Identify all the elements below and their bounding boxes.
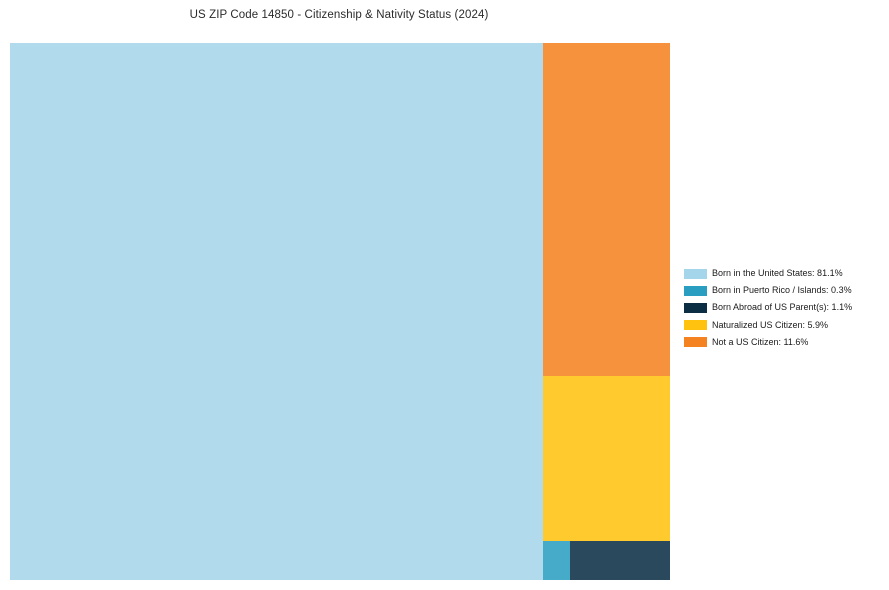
legend-swatch-born-us [684,269,707,279]
legend-label-naturalized: Naturalized US Citizen: 5.9% [712,321,828,330]
chart-legend: Born in the United States: 81.1% Born in… [684,265,884,351]
chart-title: US ZIP Code 14850 - Citizenship & Nativi… [0,9,678,21]
legend-item-not-citizen[interactable]: Not a US Citizen: 11.6% [684,334,884,351]
treemap-tile-born-in-puerto-rico-islands[interactable] [543,541,570,580]
legend-item-puerto-rico[interactable]: Born in Puerto Rico / Islands: 0.3% [684,282,884,299]
legend-label-not-citizen: Not a US Citizen: 11.6% [712,338,808,347]
legend-item-born-abroad[interactable]: Born Abroad of US Parent(s): 1.1% [684,299,884,316]
legend-label-born-abroad: Born Abroad of US Parent(s): 1.1% [712,303,852,312]
treemap-plot-area [10,43,670,580]
treemap-tile-born-abroad-of-us-parents[interactable] [570,541,670,580]
treemap-tile-born-in-the-united-states[interactable] [10,43,543,580]
legend-label-puerto-rico: Born in Puerto Rico / Islands: 0.3% [712,286,852,295]
legend-swatch-puerto-rico [684,286,707,296]
legend-item-naturalized[interactable]: Naturalized US Citizen: 5.9% [684,317,884,334]
legend-item-born-us[interactable]: Born in the United States: 81.1% [684,265,884,282]
treemap-tile-naturalized-us-citizen[interactable] [543,376,670,541]
legend-swatch-naturalized [684,320,707,330]
legend-label-born-us: Born in the United States: 81.1% [712,269,843,278]
legend-swatch-born-abroad [684,303,707,313]
legend-swatch-not-citizen [684,337,707,347]
treemap-tile-not-a-us-citizen[interactable] [543,43,670,376]
